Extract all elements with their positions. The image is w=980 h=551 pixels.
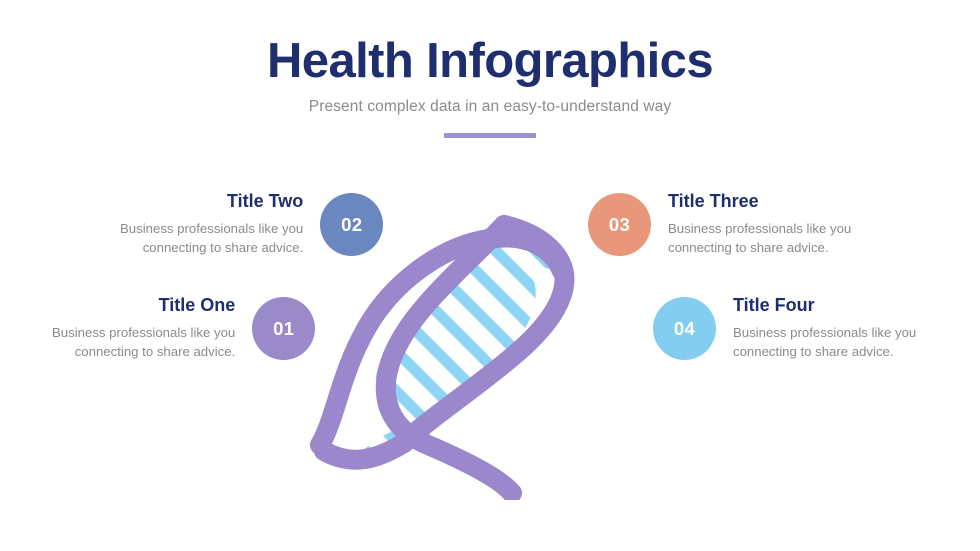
page-title: Health Infographics [0,36,980,87]
info-item-04-description: Business professionals like you connecti… [733,323,916,361]
info-item-02-text: Title Two Business professionals like yo… [120,192,303,257]
infographic-slide: Health Infographics Present complex data… [0,0,980,551]
title-divider [444,133,536,138]
info-item-02[interactable]: Title Two Business professionals like yo… [120,192,383,257]
slide-header: Health Infographics Present complex data… [0,36,980,138]
info-item-04-title: Title Four [733,296,815,316]
info-item-03-text: Title Three Business professionals like … [668,192,851,257]
info-item-03-badge[interactable]: 03 [588,193,651,256]
info-item-01-badge[interactable]: 01 [252,297,315,360]
page-subtitle: Present complex data in an easy-to-under… [0,98,980,116]
info-item-03-description: Business professionals like you connecti… [668,219,851,257]
info-item-03[interactable]: 03 Title Three Business professionals li… [588,192,851,257]
info-item-03-title: Title Three [668,192,759,212]
info-item-03-number: 03 [609,214,630,236]
info-item-02-description: Business professionals like you connecti… [120,219,303,257]
info-item-04[interactable]: 04 Title Four Business professionals lik… [653,296,916,361]
info-item-04-number: 04 [674,318,695,340]
info-item-01-description: Business professionals like you connecti… [52,323,235,361]
info-item-01-number: 01 [273,318,294,340]
info-item-02-number: 02 [341,214,362,236]
info-item-01-title: Title One [159,296,236,316]
info-item-01[interactable]: Title One Business professionals like yo… [52,296,315,361]
info-item-02-badge[interactable]: 02 [320,193,383,256]
info-item-02-title: Title Two [227,192,303,212]
info-item-01-text: Title One Business professionals like yo… [52,296,235,361]
info-item-04-badge[interactable]: 04 [653,297,716,360]
helix-strand-d [324,443,404,460]
info-item-04-text: Title Four Business professionals like y… [733,296,916,361]
